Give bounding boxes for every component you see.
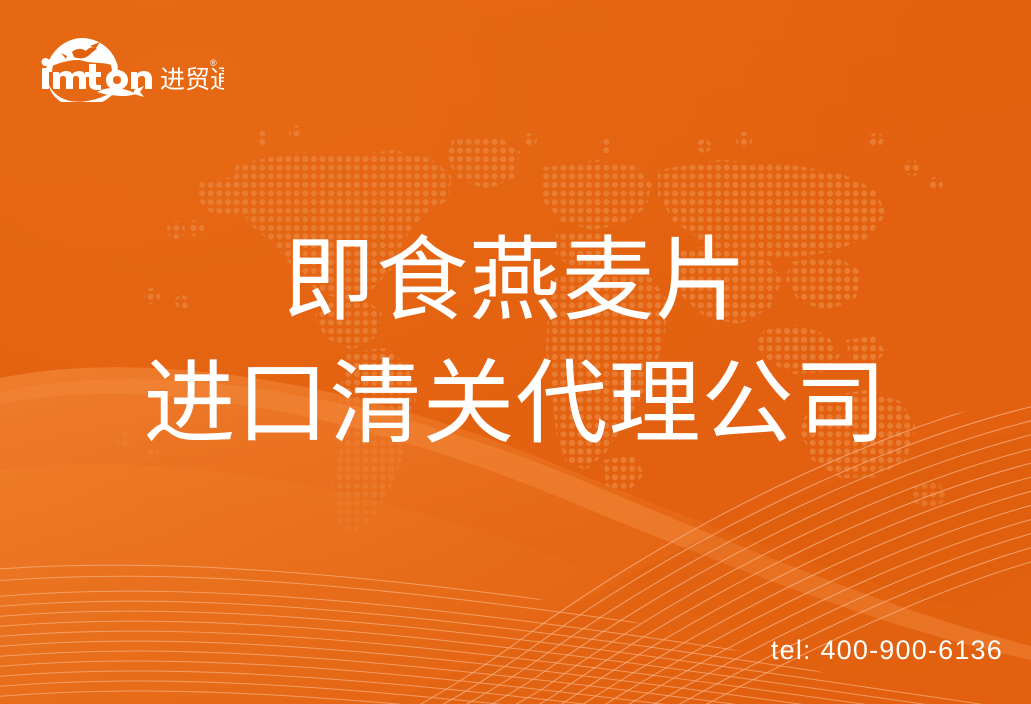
logo-chinese-name: 进贸通 xyxy=(160,65,224,94)
promo-banner: 进贸通 ® 即食燕麦片 进口清关代理公司 tel: 400-900-6136 xyxy=(0,0,1031,704)
headline-block: 即食燕麦片 进口清关代理公司 xyxy=(0,228,1031,457)
contact-telephone[interactable]: tel: 400-900-6136 xyxy=(771,635,1003,666)
trademark-icon: ® xyxy=(210,58,217,68)
company-logo[interactable]: 进贸通 ® xyxy=(34,28,224,102)
headline-line-1: 即食燕麦片 xyxy=(0,228,1031,335)
headline-line-2: 进口清关代理公司 xyxy=(0,351,1031,458)
